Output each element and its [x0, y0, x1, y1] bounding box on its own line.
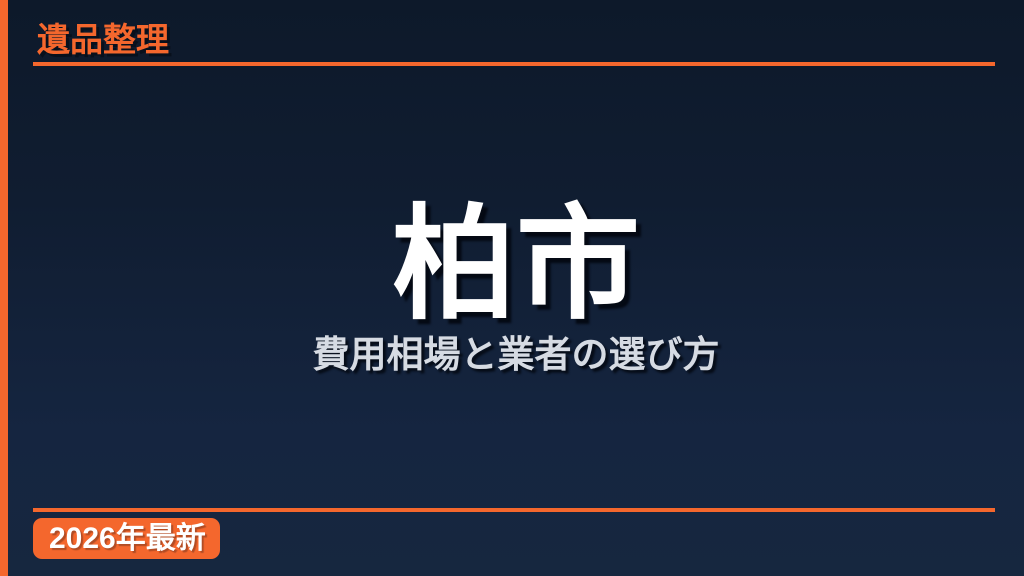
slide-canvas: 遺品整理 柏市 費用相場と業者の選び方 2026年最新 — [0, 0, 1024, 576]
title-block: 柏市 費用相場と業者の選び方 — [8, 0, 1024, 576]
page-title: 柏市 — [392, 200, 640, 330]
left-accent-bar — [0, 0, 8, 576]
page-subtitle: 費用相場と業者の選び方 — [313, 334, 720, 377]
status-badge: 2026年最新 — [33, 518, 220, 559]
status-badge-label: 2026年最新 — [49, 524, 206, 554]
footer-divider-rule — [33, 508, 995, 512]
